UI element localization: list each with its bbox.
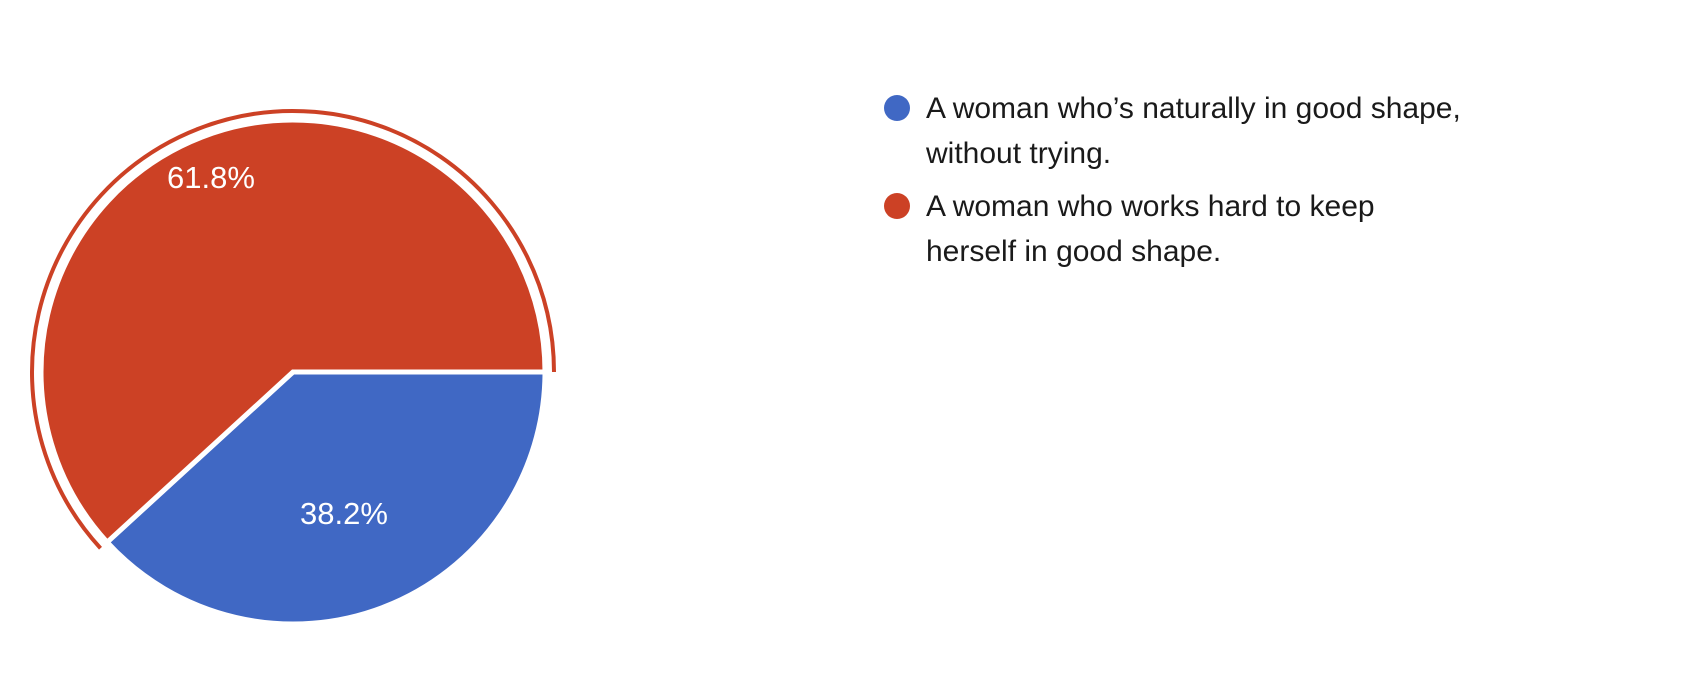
pie-plot-area: 61.8% 38.2%	[0, 0, 620, 678]
pie-chart: 61.8% 38.2% A woman who’s naturally in g…	[0, 0, 1706, 678]
legend-marker-circle-icon	[884, 193, 910, 219]
chart-legend: A woman who’s naturally in good shape, w…	[884, 86, 1584, 282]
slice-label-red: 61.8%	[167, 160, 255, 195]
slice-label-blue: 38.2%	[300, 496, 388, 531]
legend-item-1[interactable]: A woman who works hard to keep herself i…	[884, 184, 1584, 274]
pie-slices-group	[41, 120, 545, 624]
legend-item-label: A woman who’s naturally in good shape, w…	[926, 86, 1461, 176]
legend-item-label: A woman who works hard to keep herself i…	[926, 184, 1375, 274]
legend-item-0[interactable]: A woman who’s naturally in good shape, w…	[884, 86, 1584, 176]
pie-svg: 61.8% 38.2%	[0, 0, 620, 678]
legend-marker-circle-icon	[884, 95, 910, 121]
